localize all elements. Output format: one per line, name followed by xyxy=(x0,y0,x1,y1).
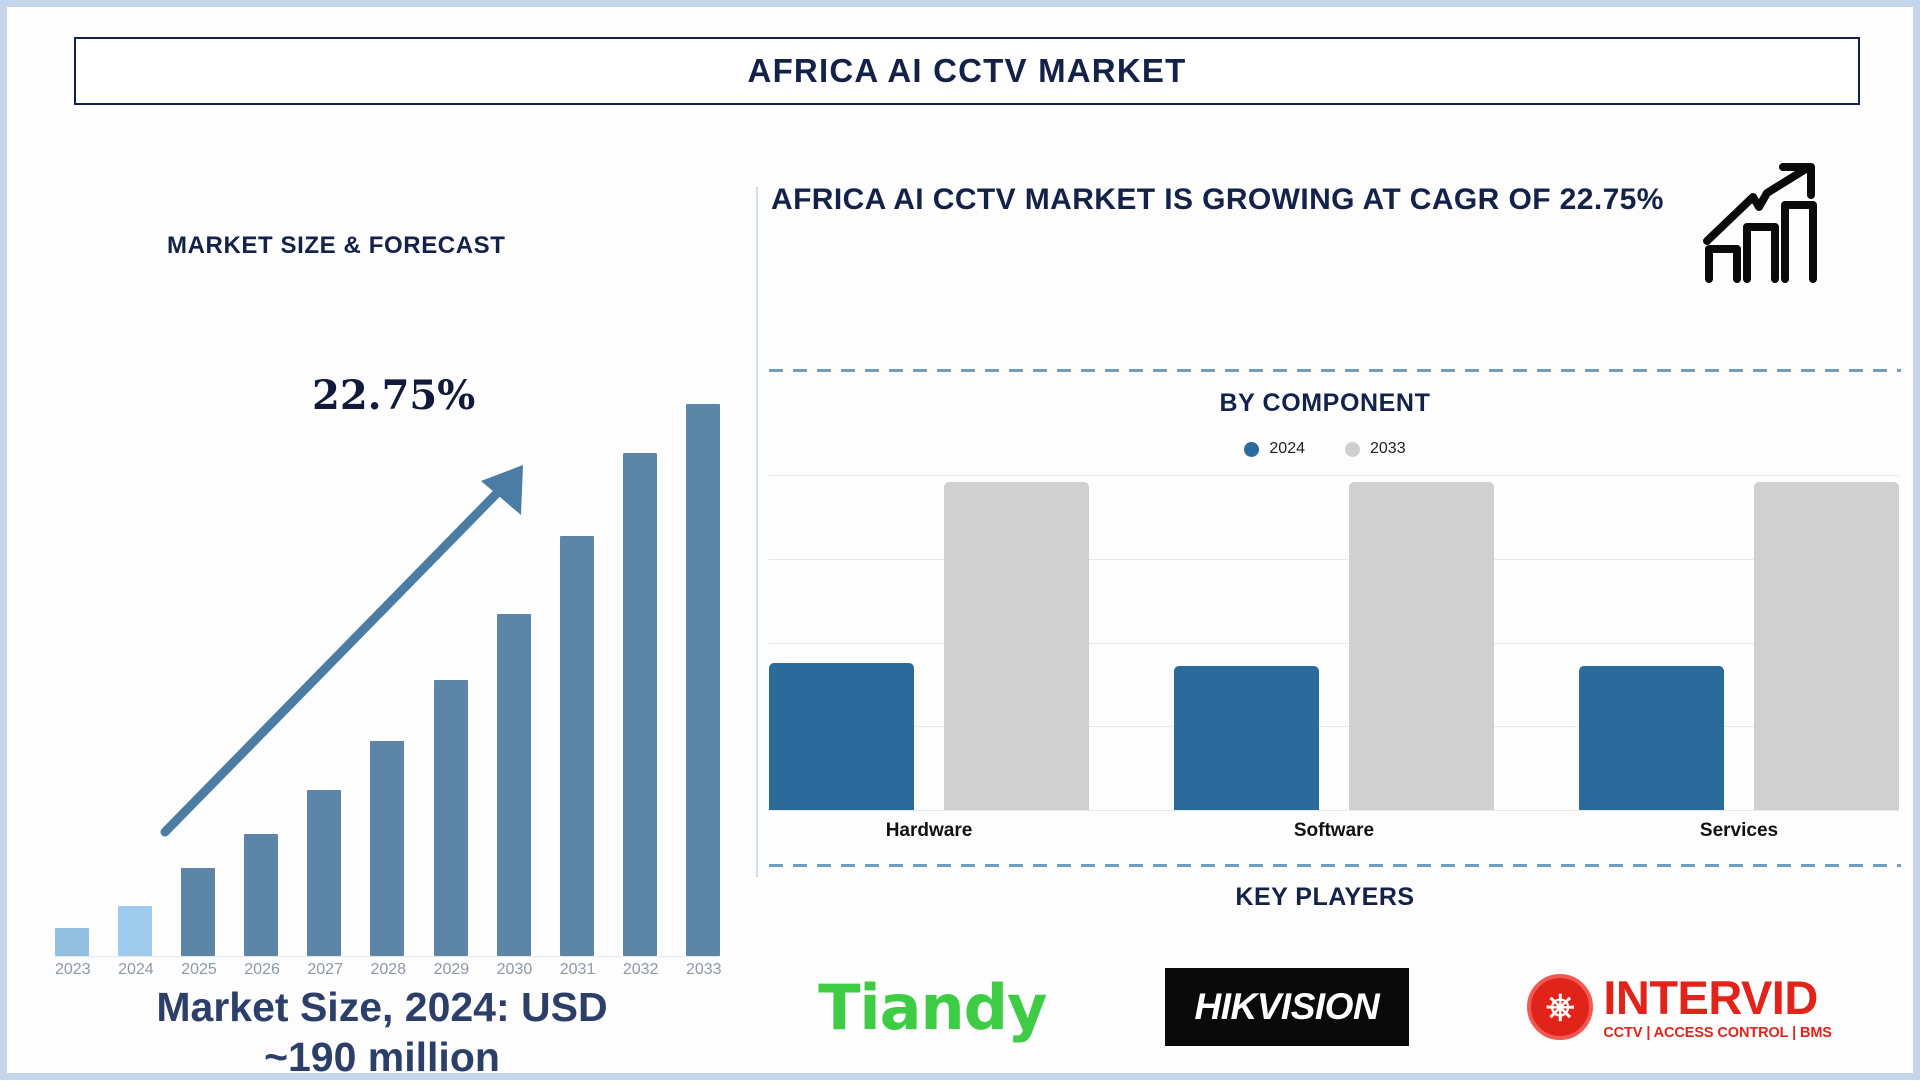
by-component-heading: BY COMPONENT xyxy=(759,389,1891,418)
panel-divider xyxy=(756,187,758,877)
forecast-bar xyxy=(307,790,341,956)
market-size-forecast-heading: MARKET SIZE & FORECAST xyxy=(167,232,506,260)
forecast-year-label: 2030 xyxy=(497,961,531,979)
title-box: AFRICA AI CCTV MARKET xyxy=(74,37,1860,105)
by-component-chart xyxy=(769,475,1899,810)
forecast-bar xyxy=(686,404,720,956)
component-bar-group xyxy=(769,475,1089,810)
forecast-year-label: 2033 xyxy=(686,961,720,979)
component-bar xyxy=(1349,482,1494,810)
component-bar xyxy=(944,482,1089,810)
logo-slot-intervid: ⎈ INTERVID CCTV | ACCESS CONTROL | BMS xyxy=(1527,974,1832,1041)
gridline xyxy=(769,810,1899,811)
forecast-bar xyxy=(434,680,468,956)
left-panel: MARKET SIZE & FORECAST 22.75% 2023202420… xyxy=(7,137,755,1087)
forecast-bar xyxy=(560,536,594,956)
component-label: Services xyxy=(1579,820,1899,842)
market-size-line-1: Market Size, 2024: USD xyxy=(156,984,607,1030)
forecast-year-label: 2026 xyxy=(244,961,278,979)
page-title: AFRICA AI CCTV MARKET xyxy=(748,52,1187,90)
legend-item[interactable]: 2033 xyxy=(1345,440,1406,458)
forecast-bars-container xyxy=(55,376,720,956)
legend-dot-icon xyxy=(1345,442,1360,457)
component-bar xyxy=(1174,666,1319,810)
intervid-name: INTERVID xyxy=(1603,974,1832,1021)
logo-slot-tiandy: Tiandy xyxy=(818,971,1046,1044)
forecast-year-label: 2029 xyxy=(434,961,468,979)
growth-chart-icon xyxy=(1697,157,1827,287)
tiandy-logo: Tiandy xyxy=(818,971,1046,1044)
forecast-bar xyxy=(370,741,404,956)
forecast-year-label: 2025 xyxy=(181,961,215,979)
forecast-bar xyxy=(497,614,531,956)
component-label: Software xyxy=(1174,820,1494,842)
forecast-year-labels: 2023202420252026202720282029203020312032… xyxy=(55,958,720,982)
legend-label: 2033 xyxy=(1370,440,1406,458)
divider-dashed-bottom xyxy=(769,864,1901,867)
legend-dot-icon xyxy=(1244,442,1259,457)
forecast-year-label: 2031 xyxy=(560,961,594,979)
forecast-year-label: 2027 xyxy=(307,961,341,979)
forecast-bar xyxy=(181,868,215,956)
right-panel: AFRICA AI CCTV MARKET IS GROWING AT CAGR… xyxy=(759,137,1919,1087)
forecast-year-label: 2024 xyxy=(118,961,152,979)
forecast-year-label: 2023 xyxy=(55,961,89,979)
legend-item[interactable]: 2024 xyxy=(1244,440,1305,458)
infographic-page: AFRICA AI CCTV MARKET MARKET SIZE & FORE… xyxy=(0,0,1920,1080)
key-players-heading: KEY PLAYERS xyxy=(759,883,1891,912)
forecast-bar xyxy=(55,928,89,956)
component-category-labels: HardwareSoftwareServices xyxy=(769,820,1899,842)
legend-label: 2024 xyxy=(1269,440,1305,458)
chart-baseline xyxy=(55,956,720,957)
hikvision-logo-text: HIKVISION xyxy=(1195,986,1380,1028)
forecast-bar xyxy=(244,834,278,956)
market-size-line-2: ~190 million xyxy=(264,1034,500,1080)
component-bar xyxy=(769,663,914,810)
divider-dashed-top xyxy=(769,369,1901,372)
intervid-power-icon: ⎈ xyxy=(1527,974,1593,1040)
component-bar xyxy=(1579,666,1724,810)
forecast-bar xyxy=(623,453,657,956)
forecast-bar xyxy=(118,906,152,956)
hikvision-logo: HIKVISION xyxy=(1165,968,1410,1046)
component-bar xyxy=(1754,482,1899,810)
forecast-year-label: 2028 xyxy=(370,961,404,979)
market-forecast-chart: 2023202420252026202720282029203020312032… xyxy=(55,367,720,982)
component-bar-groups xyxy=(769,475,1899,810)
component-chart-legend: 20242033 xyxy=(759,440,1891,458)
intervid-wordmark: INTERVID CCTV | ACCESS CONTROL | BMS xyxy=(1603,974,1832,1041)
component-label: Hardware xyxy=(769,820,1089,842)
component-bar-group xyxy=(1579,475,1899,810)
key-players-logos: Tiandy HIKVISION ⎈ INTERVID CCTV | ACC xyxy=(759,937,1891,1077)
intervid-mark-glyph: ⎈ xyxy=(1546,989,1575,1025)
market-size-statement: Market Size, 2024: USD ~190 million xyxy=(37,982,727,1082)
intervid-logo: ⎈ INTERVID CCTV | ACCESS CONTROL | BMS xyxy=(1527,974,1832,1041)
intervid-tagline: CCTV | ACCESS CONTROL | BMS xyxy=(1603,1025,1832,1041)
logo-slot-hikvision: HIKVISION xyxy=(1165,968,1410,1046)
forecast-year-label: 2032 xyxy=(623,961,657,979)
growth-headline: AFRICA AI CCTV MARKET IS GROWING AT CAGR… xyxy=(771,179,1701,220)
infographic-inner: AFRICA AI CCTV MARKET MARKET SIZE & FORE… xyxy=(7,7,1913,1073)
component-bar-group xyxy=(1174,475,1494,810)
